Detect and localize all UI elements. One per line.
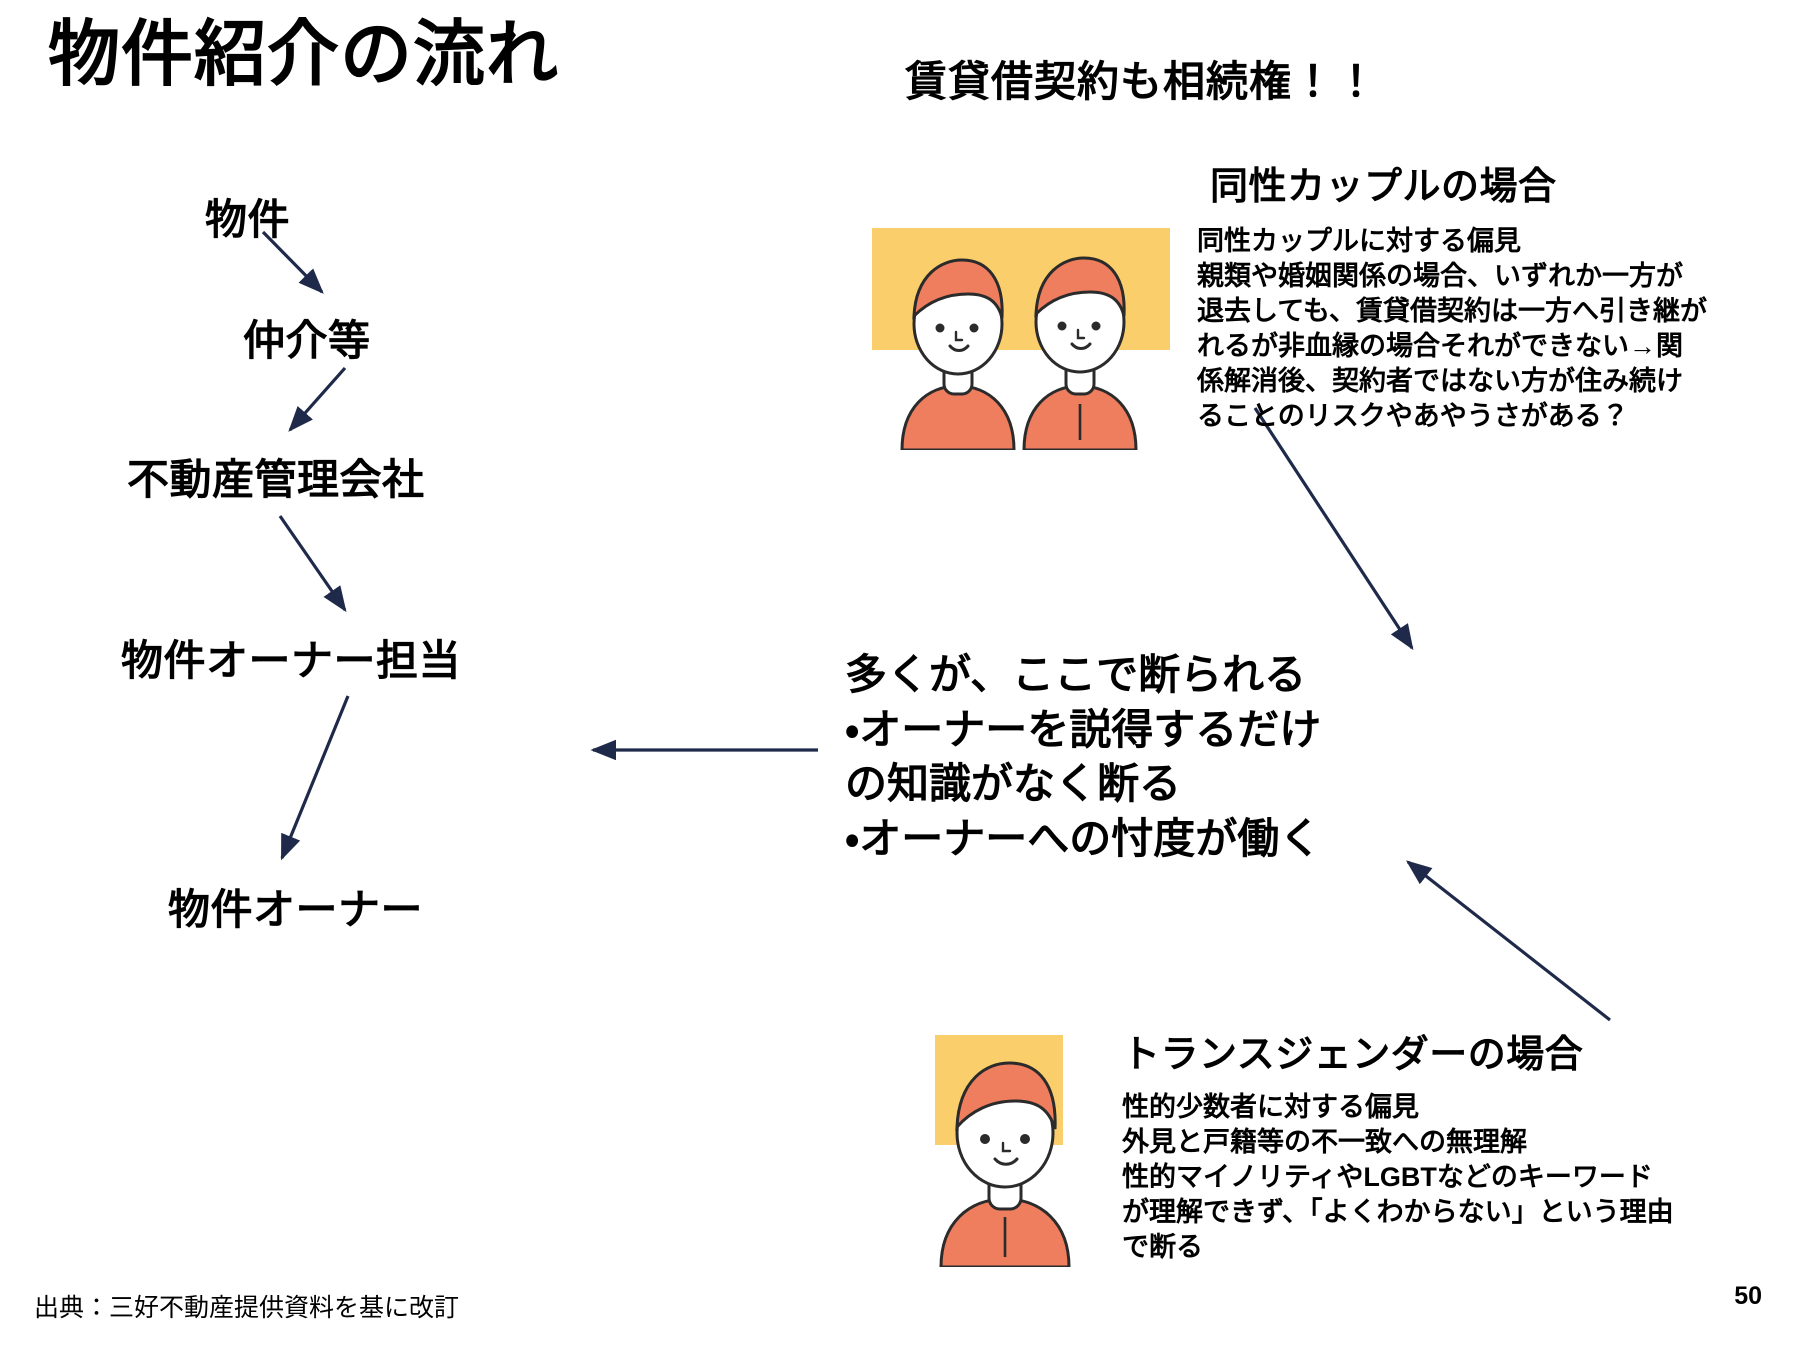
source-note: 出典：三好不動産提供資料を基に改訂 [34, 1288, 459, 1324]
case-body-transgender: 性的少数者に対する偏見 外見と戸籍等の不一致への無理解 性的マイノリティやLGB… [1122, 1090, 1682, 1265]
same-sex-couple-illustration [872, 228, 1170, 450]
middle-callout-line-2: ・オーナーを説得するだけ [845, 703, 1321, 758]
slide-canvas: 物件紹介の流れ 賃貸借契約も相続権！！ 物件 仲介等 不動産管理会社 物件オーナ… [0, 0, 1800, 1350]
flow-node-owner: 物件オーナー [168, 876, 423, 937]
flow-node-management-company: 不動産管理会社 [127, 446, 425, 507]
middle-callout-line-3: の知識がなく断る [845, 757, 1321, 812]
case-heading-same-sex-couple: 同性カップルの場合 [1210, 155, 1557, 210]
flow-node-property: 物件 [205, 186, 290, 247]
page-number: 50 [1734, 1282, 1762, 1311]
flow-node-broker: 仲介等 [243, 307, 371, 368]
case-body-same-sex-couple: 同性カップルに対する偏見 親類や婚姻関係の場合、いずれか一方が 退去しても、賃貸… [1197, 224, 1757, 435]
right-heading: 賃貸借契約も相続権！！ [905, 48, 1378, 109]
middle-callout: 多くが、ここで断られる ・オーナーを説得するだけ の知識がなく断る ・オーナーへ… [845, 648, 1321, 866]
case-heading-transgender: トランスジェンダーの場合 [1122, 1023, 1583, 1078]
middle-callout-line-1: 多くが、ここで断られる [845, 648, 1321, 703]
flow-node-owner-rep: 物件オーナー担当 [121, 627, 461, 688]
middle-callout-line-4: ・オーナーへの忖度が働く [845, 812, 1321, 867]
transgender-illustration [935, 1035, 1095, 1267]
page-title: 物件紹介の流れ [48, 18, 559, 94]
